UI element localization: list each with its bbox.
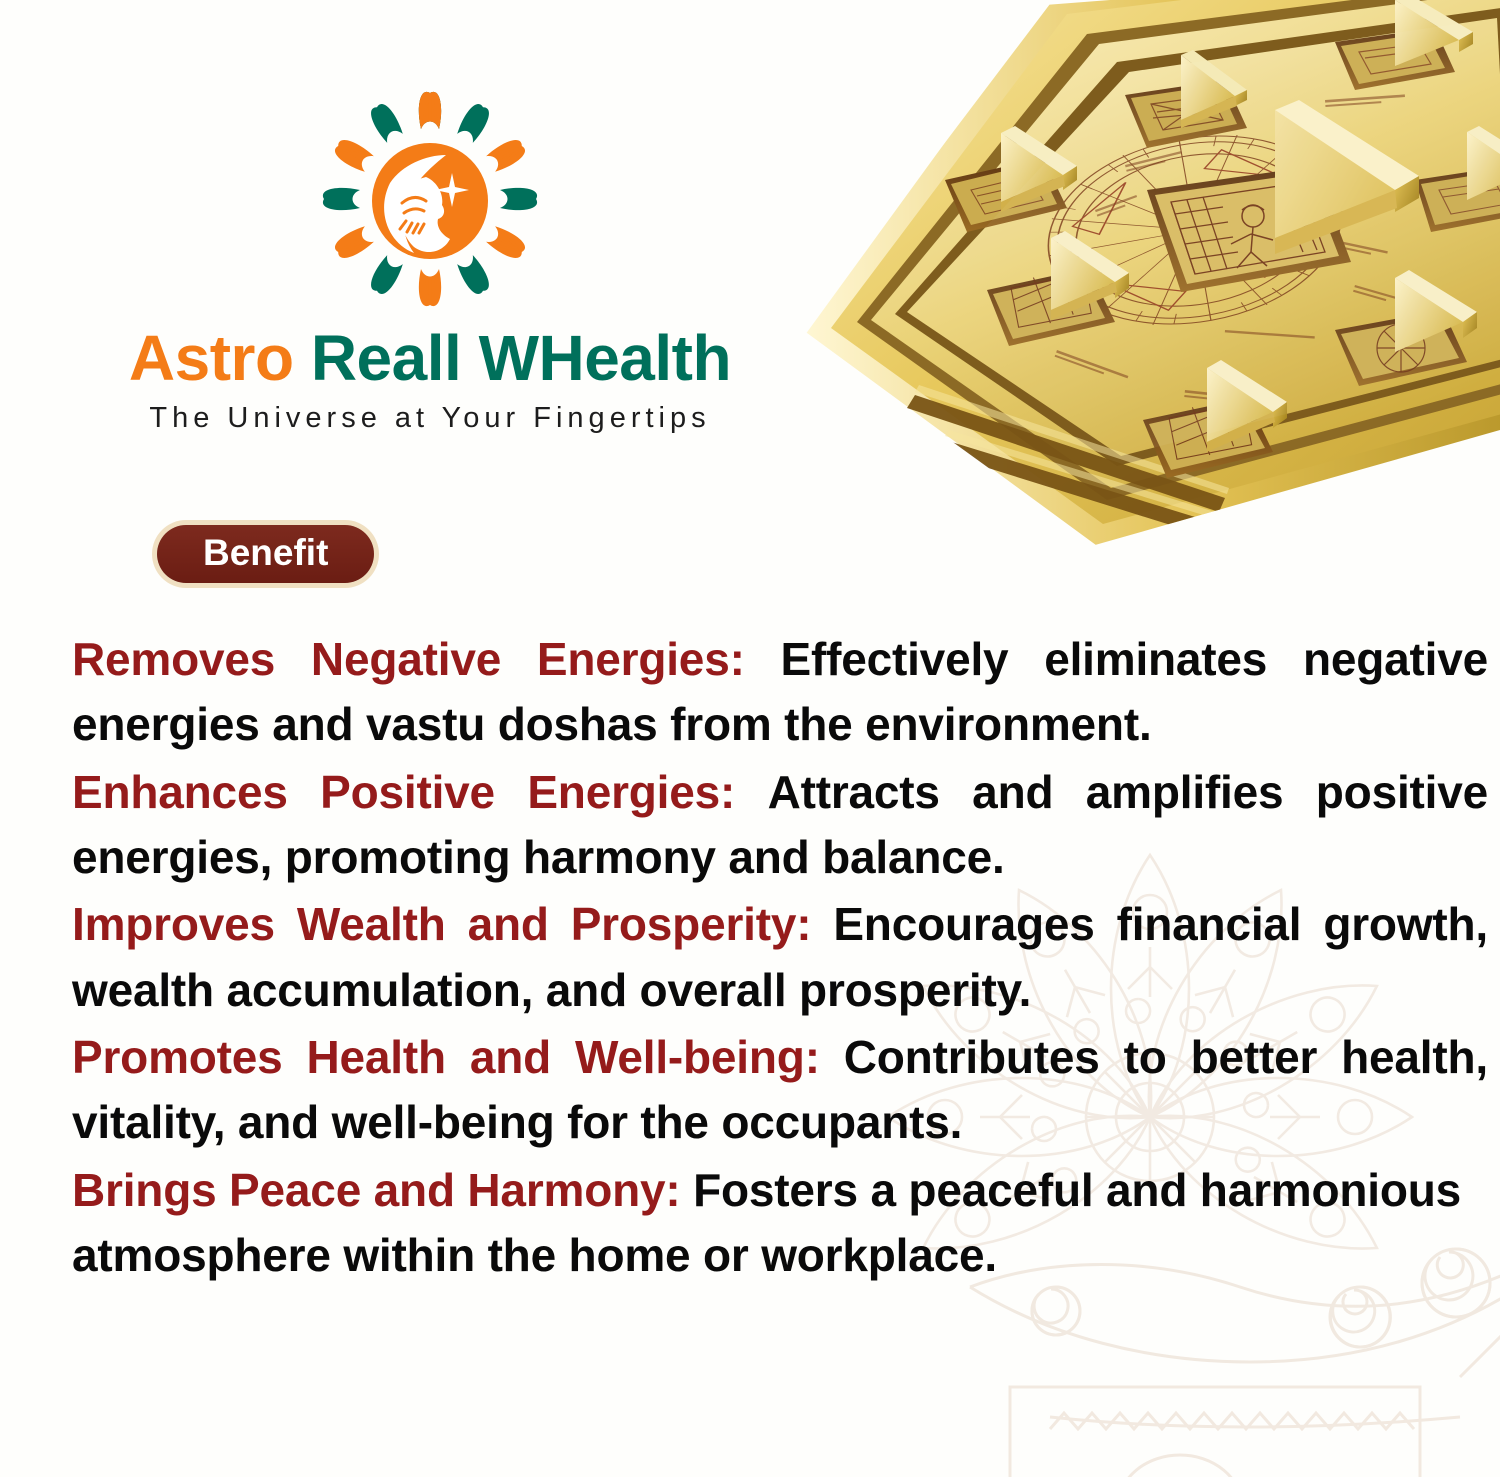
benefit-term: Enhances Positive Energies: (72, 766, 735, 818)
benefit-badge-label: Benefit (157, 525, 374, 583)
sun-face-icon (314, 88, 546, 310)
benefit-term: Promotes Health and Well-being: (72, 1031, 820, 1083)
benefit-item: Enhances Positive Energies: Attracts and… (72, 760, 1488, 891)
benefit-item: Improves Wealth and Prosperity: Encourag… (72, 892, 1488, 1023)
brand-name-part2: Reall WHealth (311, 322, 731, 394)
brand-name-part1: Astro (129, 322, 294, 394)
brass-pyramid-yantra-image (795, 0, 1500, 560)
brand-tagline: The Universe at Your Fingertips (70, 402, 790, 435)
benefit-term: Removes Negative Energies: (72, 633, 745, 685)
benefit-badge: Benefit (152, 520, 379, 588)
benefit-poster: Astro Reall WHealth The Universe at Your… (0, 0, 1500, 1477)
benefit-term: Improves Wealth and Prosperity: (72, 898, 811, 950)
benefit-list: Removes Negative Energies: Effectively e… (72, 627, 1488, 1290)
benefit-item: Promotes Health and Well-being: Contribu… (72, 1025, 1488, 1156)
benefit-item: Removes Negative Energies: Effectively e… (72, 627, 1488, 758)
brand-wordmark: Astro Reall WHealth (70, 326, 790, 390)
benefit-item: Brings Peace and Harmony: Fosters a peac… (72, 1158, 1488, 1289)
benefit-term: Brings Peace and Harmony: (72, 1164, 681, 1216)
brand-logo-block: Astro Reall WHealth The Universe at Your… (70, 88, 790, 435)
